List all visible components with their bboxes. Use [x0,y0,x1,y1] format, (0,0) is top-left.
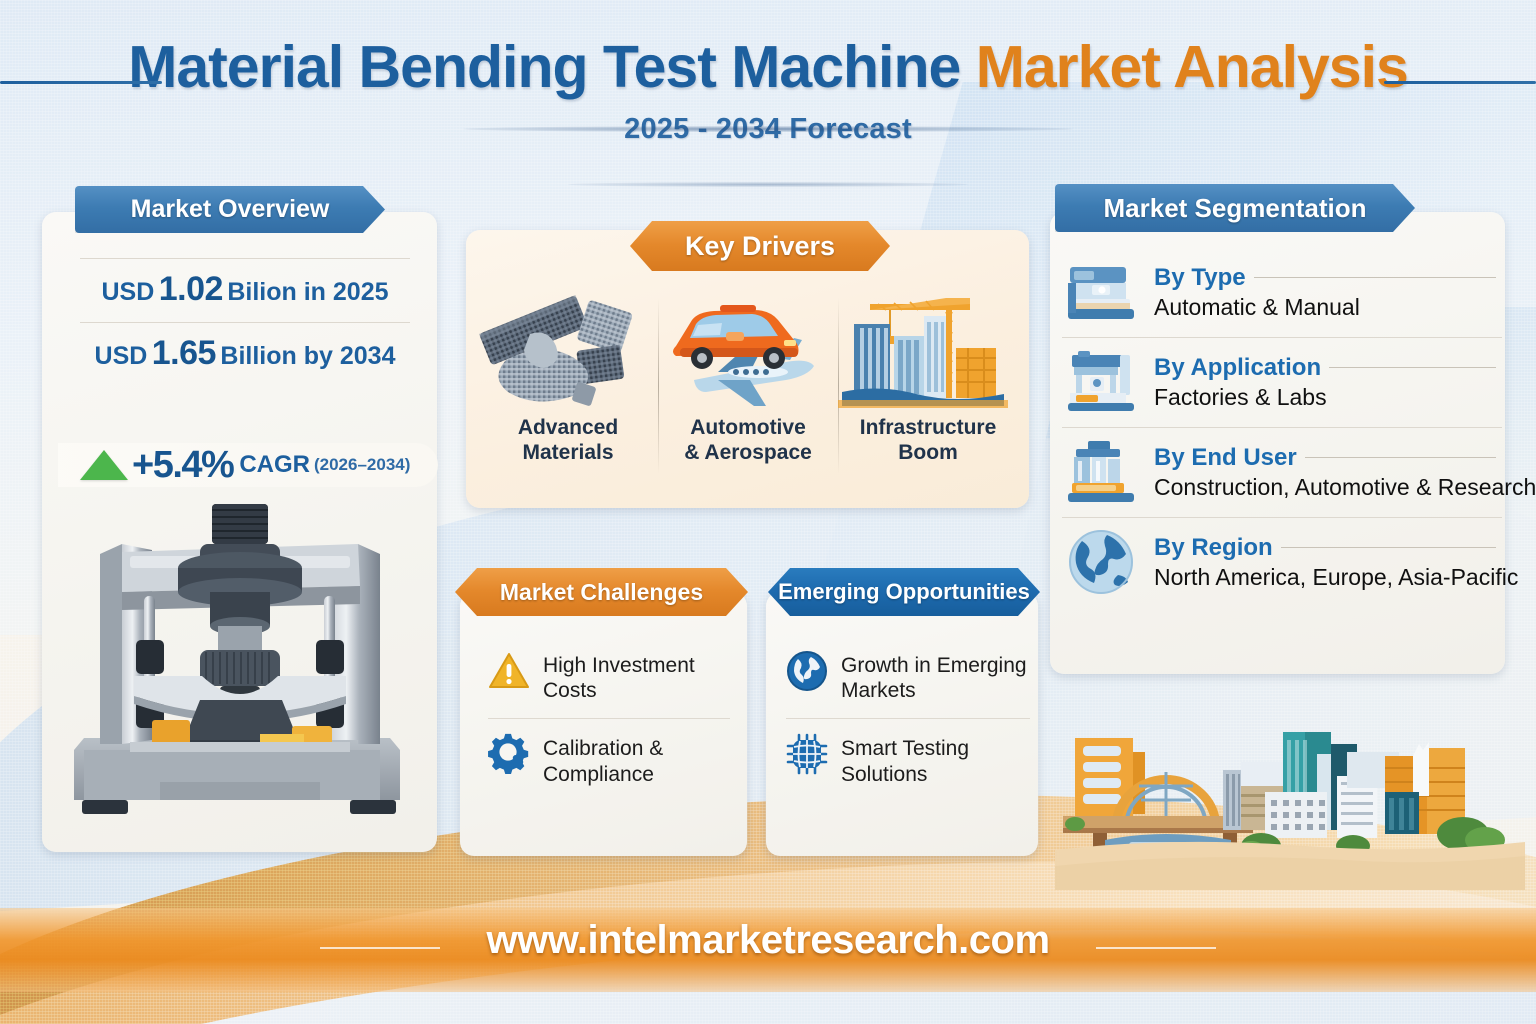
market-value-number: 1.65 [152,334,216,372]
page-title-accent: Market Analysis [976,34,1408,100]
segmentation-row-head: By Application [1154,354,1502,382]
title-underline-shadow [463,126,1073,132]
page-title-primary: Material Bending Test Machine [128,34,960,100]
segmentation-rule [1254,277,1496,278]
warning-triangle-icon [488,650,530,692]
segmentation-value: North America, Europe, Asia-Pacific [1154,564,1502,591]
market-value-suffix: Bilion in 2025 [227,278,388,306]
list-item: Growth in Emerging Markets [786,636,1030,718]
segmentation-row-head: By Type [1154,264,1502,292]
market-value-prefix: USD [101,278,154,306]
car-airplane-icon [658,288,838,414]
segmentation-title: By End User [1154,444,1297,472]
list-item-label: High Investment Costs [543,650,730,703]
segmentation-row-head: By End User [1154,444,1502,472]
market-value-prefix: USD [95,342,148,370]
segmentation-rule [1329,367,1496,368]
market-segmentation-rows: By Type Automatic & Manual [1062,248,1502,607]
market-value-row: USD 1.65 Billion by 2034 [80,322,410,386]
key-driver-item: Automotive & Aerospace [658,288,838,498]
segmentation-row: By End User Construction, Automotive & R… [1062,427,1502,517]
segmentation-title: By Type [1154,264,1246,292]
cagr-badge: +5.4% CAGR (2026–2034) [58,443,438,487]
emerging-opportunities-banner: Emerging Opportunities [768,568,1040,616]
segmentation-row: By Type Automatic & Manual [1062,248,1502,337]
header: Material Bending Test Machine Market Ana… [0,0,1536,146]
segmentation-row-body: By Application Factories & Labs [1154,354,1502,411]
segmentation-row-head: By Region [1154,534,1502,562]
globe-region-icon [1062,527,1140,597]
segmentation-row: By Region North America, Europe, Asia-Pa… [1062,517,1502,607]
title-rule-left [0,81,162,84]
emerging-opportunities-items: Growth in Emerging Markets Smart Testing… [786,636,1030,802]
title-rule-right [1384,81,1536,84]
segmentation-title: By Region [1154,534,1273,562]
key-driver-label-line2: Boom [898,441,958,464]
composite-materials-icon [478,288,658,414]
segmentation-row-body: By Type Automatic & Manual [1154,264,1502,321]
cagr-value: +5.4% [132,444,233,487]
market-segmentation-banner: Market Segmentation [1055,184,1415,232]
key-driver-label-line2: Materials [522,441,613,464]
list-item: Calibration & Compliance [488,718,730,801]
key-driver-label-line1: Infrastructure [860,416,997,439]
segmentation-value: Factories & Labs [1154,384,1502,411]
machine-enduser-icon [1062,437,1140,507]
key-driver-label-line2: & Aerospace [684,441,812,464]
key-driver-item: Advanced Materials [478,288,658,498]
segmentation-value: Construction, Automotive & Research [1154,474,1502,501]
key-driver-label-line1: Advanced [518,416,618,439]
cagr-years: (2026–2034) [314,455,410,475]
chip-icon [786,733,828,775]
bending-test-machine-image [60,500,420,850]
key-driver-label: Automotive & Aerospace [684,416,812,466]
machine-application-icon [1062,347,1140,417]
segmentation-row-body: By Region North America, Europe, Asia-Pa… [1154,534,1502,591]
machine-type-icon [1062,257,1140,327]
footer-url[interactable]: www.intelmarketresearch.com [0,918,1536,963]
key-driver-label-line1: Automotive [690,416,806,439]
list-item-label: Growth in Emerging Markets [841,650,1030,703]
buildings-crane-icon [838,288,1018,414]
segmentation-row-body: By End User Construction, Automotive & R… [1154,444,1502,501]
gear-magnifier-icon [488,733,530,775]
key-driver-label: Advanced Materials [518,416,618,466]
key-drivers-items: Advanced Materials [478,288,1018,498]
segmentation-row: By Application Factories & Labs [1062,337,1502,427]
list-item-label: Calibration & Compliance [543,733,730,786]
segmentation-rule [1305,457,1496,458]
segmentation-title: By Application [1154,354,1321,382]
market-challenges-banner: Market Challenges [455,568,748,616]
segmentation-rule [1281,547,1496,548]
subtitle-underline-shadow [568,182,968,187]
cityscape-illustration [1055,700,1525,890]
list-item: Smart Testing Solutions [786,718,1030,801]
page-title: Material Bending Test Machine Market Ana… [0,38,1536,97]
list-item: High Investment Costs [488,636,730,718]
market-value-number: 1.02 [159,270,223,308]
cagr-label: CAGR [239,451,310,479]
market-value-suffix: Billion by 2034 [220,342,395,370]
globe-icon [786,650,828,692]
triangle-up-icon [80,450,128,480]
market-challenges-items: High Investment Costs Calibration & Comp… [488,636,730,802]
key-driver-label: Infrastructure Boom [860,416,997,466]
segmentation-value: Automatic & Manual [1154,294,1502,321]
market-overview-banner: Market Overview [75,186,385,233]
market-value-row: USD 1.02 Bilion in 2025 [80,258,410,322]
list-item-label: Smart Testing Solutions [841,733,1030,786]
key-drivers-banner: Key Drivers [630,221,890,271]
key-driver-item: Infrastructure Boom [838,288,1018,498]
market-overview-values: USD 1.02 Bilion in 2025 USD 1.65 Billion… [80,258,410,386]
